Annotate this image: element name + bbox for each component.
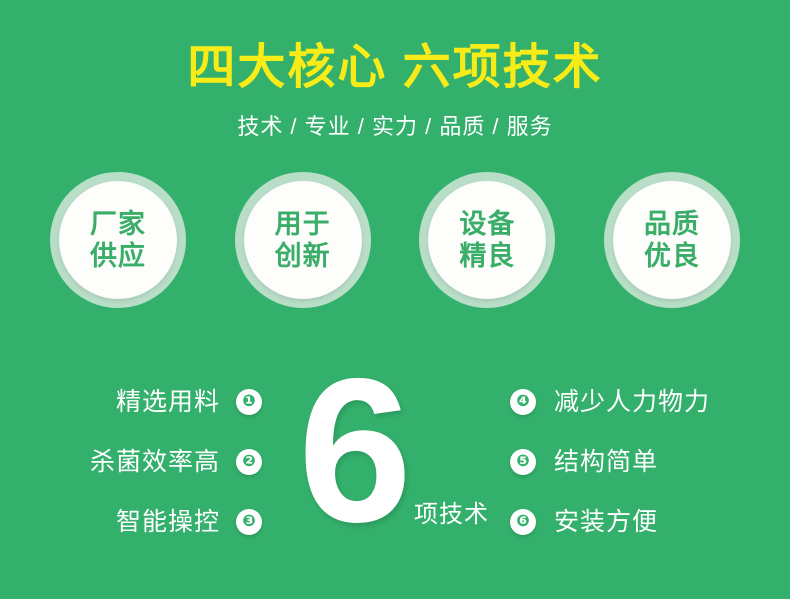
feature-label-6: 安装方便 (554, 507, 658, 537)
core-circle-4-inner: 品质 优良 (613, 181, 731, 299)
core-circle-2-line2: 创新 (275, 240, 331, 272)
core-circle-row: 厂家 供应 用于 创新 设备 精良 品质 优良 (50, 172, 740, 312)
list-item: 杀菌效率高 ❷ (40, 432, 262, 492)
core-circle-4-line1: 品质 (644, 208, 700, 240)
core-circle-2-inner: 用于 创新 (244, 181, 362, 299)
center-caption: 项技术 (414, 500, 489, 530)
feature-number-badge-2: ❷ (236, 449, 262, 475)
feature-number-badge-6: ❻ (510, 509, 536, 535)
center-big-number: 6 (298, 348, 408, 553)
feature-list-left: 精选用料 ❶ 杀菌效率高 ❷ 智能操控 ❸ (40, 372, 262, 552)
core-circle-4-line2: 优良 (644, 240, 700, 272)
core-circle-1: 厂家 供应 (50, 172, 186, 308)
list-item: ❻ 安装方便 (510, 492, 765, 552)
core-circle-2: 用于 创新 (235, 172, 371, 308)
feature-label-5: 结构简单 (554, 447, 658, 477)
feature-number-badge-1: ❶ (236, 389, 262, 415)
feature-number-badge-5: ❺ (510, 449, 536, 475)
core-circle-1-inner: 厂家 供应 (59, 181, 177, 299)
page-subtitle: 技术 / 专业 / 实力 / 品质 / 服务 (0, 112, 790, 142)
feature-number-badge-4: ❹ (510, 389, 536, 415)
core-circle-3-line2: 精良 (459, 240, 515, 272)
feature-number-badge-3: ❸ (236, 509, 262, 535)
core-circle-3-line1: 设备 (459, 208, 515, 240)
list-item: ❺ 结构简单 (510, 432, 765, 492)
feature-label-1: 精选用料 (116, 387, 220, 417)
center-highlight: 6 项技术 (298, 378, 503, 538)
core-circle-4: 品质 优良 (604, 172, 740, 308)
feature-label-3: 智能操控 (116, 507, 220, 537)
list-item: ❹ 减少人力物力 (510, 372, 765, 432)
core-circle-3-inner: 设备 精良 (428, 181, 546, 299)
feature-label-2: 杀菌效率高 (90, 447, 220, 477)
core-circle-3: 设备 精良 (419, 172, 555, 308)
feature-label-4: 减少人力物力 (554, 387, 710, 417)
list-item: 精选用料 ❶ (40, 372, 262, 432)
core-circle-1-line2: 供应 (90, 240, 146, 272)
list-item: 智能操控 ❸ (40, 492, 262, 552)
poster-canvas: 四大核心 六项技术 技术 / 专业 / 实力 / 品质 / 服务 厂家 供应 用… (0, 0, 790, 599)
core-circle-2-line1: 用于 (275, 208, 331, 240)
feature-list-right: ❹ 减少人力物力 ❺ 结构简单 ❻ 安装方便 (510, 372, 765, 552)
core-circle-1-line1: 厂家 (90, 208, 146, 240)
page-title: 四大核心 六项技术 (0, 40, 790, 96)
